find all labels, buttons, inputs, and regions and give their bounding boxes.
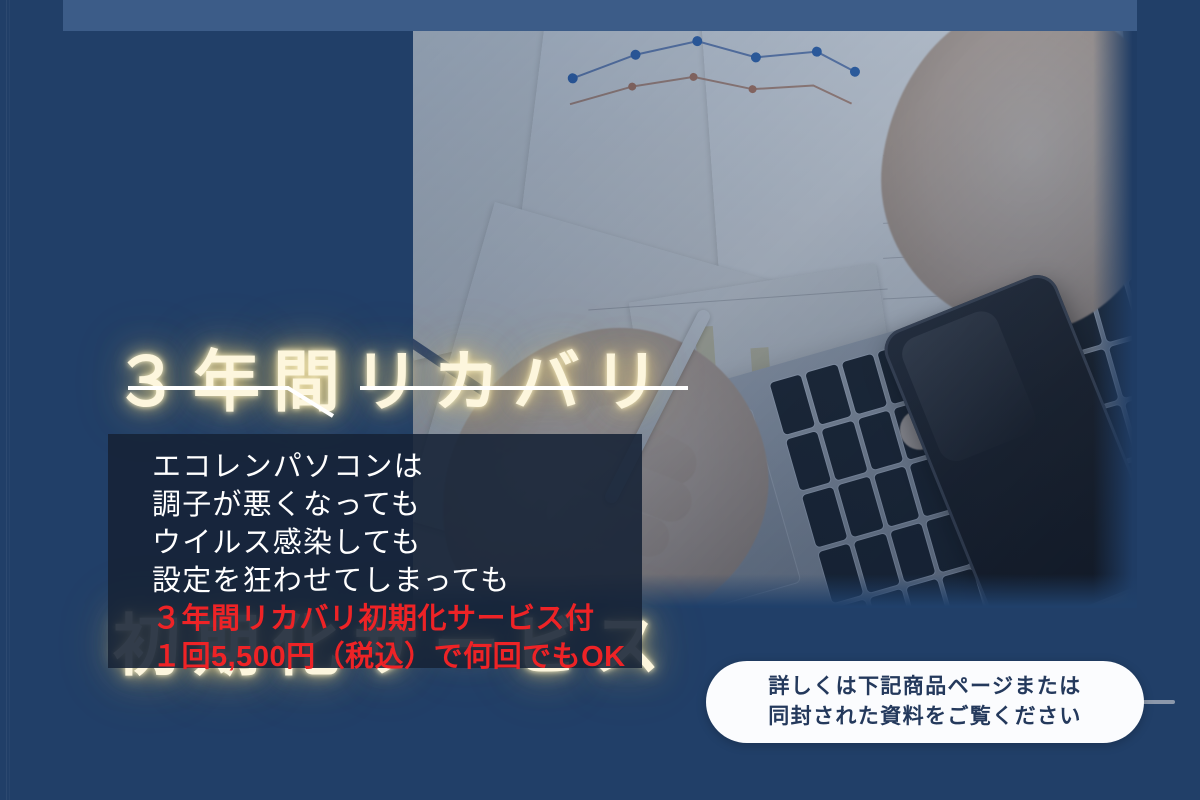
callout-pill: 詳しくは下記商品ページまたは 同封された資料をご覧ください <box>706 661 1144 743</box>
description-line-highlight: ３年間リカバリ初期化サービス付 <box>152 600 632 638</box>
callout-line-1: 詳しくは下記商品ページまたは <box>768 672 1081 702</box>
photo-right-vignette <box>1093 31 1137 608</box>
callout-line-2: 同封された資料をご覧ください <box>768 702 1082 732</box>
description-line: 設定を狂わせてしまっても <box>152 562 632 600</box>
top-accent-band <box>63 0 1137 31</box>
description-line-price: １回5,500円（税込）で何回でもOK <box>152 638 632 676</box>
description-line: ウイルス感染しても <box>152 524 632 562</box>
description-line: 調子が悪くなっても <box>152 486 632 524</box>
left-edge-hairline <box>6 0 7 800</box>
description-lines: エコレンパソコンは 調子が悪くなっても ウイルス感染しても 設定を狂わせてしまっ… <box>152 448 632 676</box>
promo-banner: ３年間リカバリ 初期化サービス エコレンパソコンは 調子が悪くなっても ウイルス… <box>0 0 1200 800</box>
description-line: エコレンパソコンは <box>152 448 632 486</box>
left-edge-hairline-secondary <box>9 0 10 800</box>
bracket-divider <box>128 366 688 418</box>
description-box: エコレンパソコンは 調子が悪くなっても ウイルス感染しても 設定を狂わせてしまっ… <box>108 434 642 668</box>
